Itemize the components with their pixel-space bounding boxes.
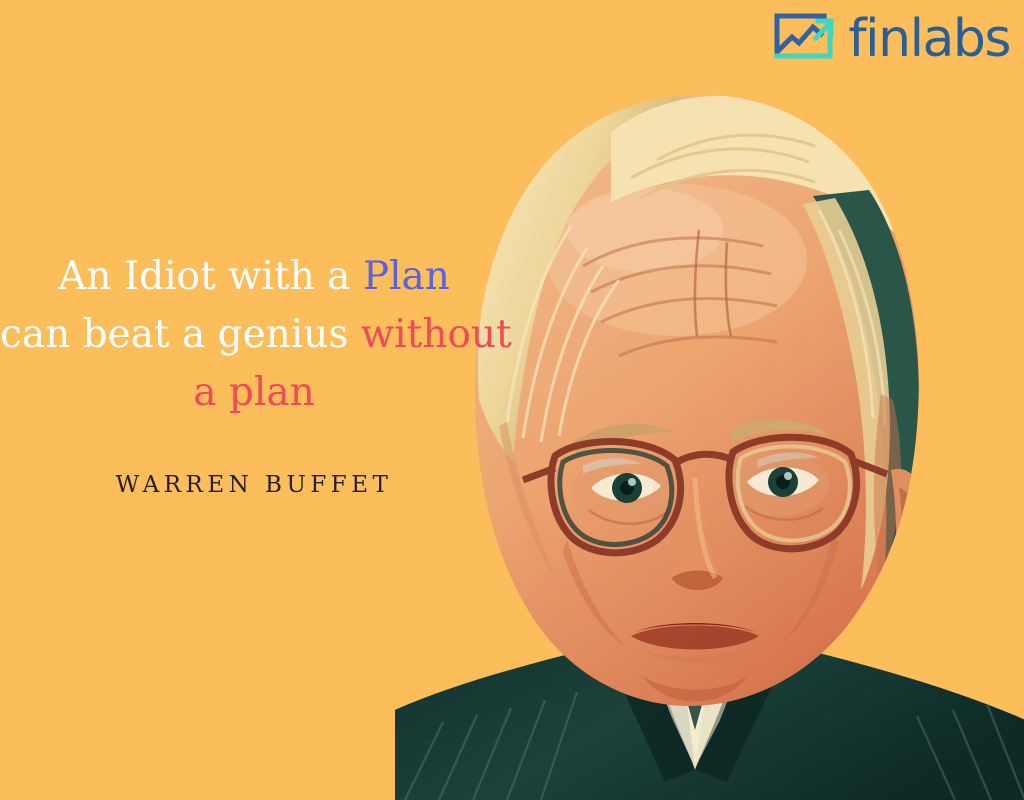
finlabs-logo[interactable]: finlabs [772, 8, 1010, 68]
quote-line-2-accent: without [361, 312, 512, 357]
warren-buffett-portrait-illustration [395, 70, 1024, 800]
chart-growth-arrow-icon [772, 12, 840, 64]
quote-line-3: a plan [0, 364, 508, 422]
quote-line-2-plain: can beat a genius [0, 312, 361, 357]
quote-line-1: An Idiot with a Plan [0, 248, 508, 306]
quote-line-2: can beat a genius without [0, 306, 508, 364]
finlabs-wordmark: finlabs [848, 13, 1010, 65]
quote-attribution: WARREN BUFFET [0, 472, 508, 498]
quote-poster: finlabs An Idiot with a Plan can beat a … [0, 0, 1024, 800]
quote-line-1-accent: Plan [363, 254, 450, 299]
portrait-container [395, 70, 1024, 800]
quote-line-1-plain: An Idiot with a [58, 254, 363, 299]
quote-text-block: An Idiot with a Plan can beat a genius w… [0, 248, 508, 422]
